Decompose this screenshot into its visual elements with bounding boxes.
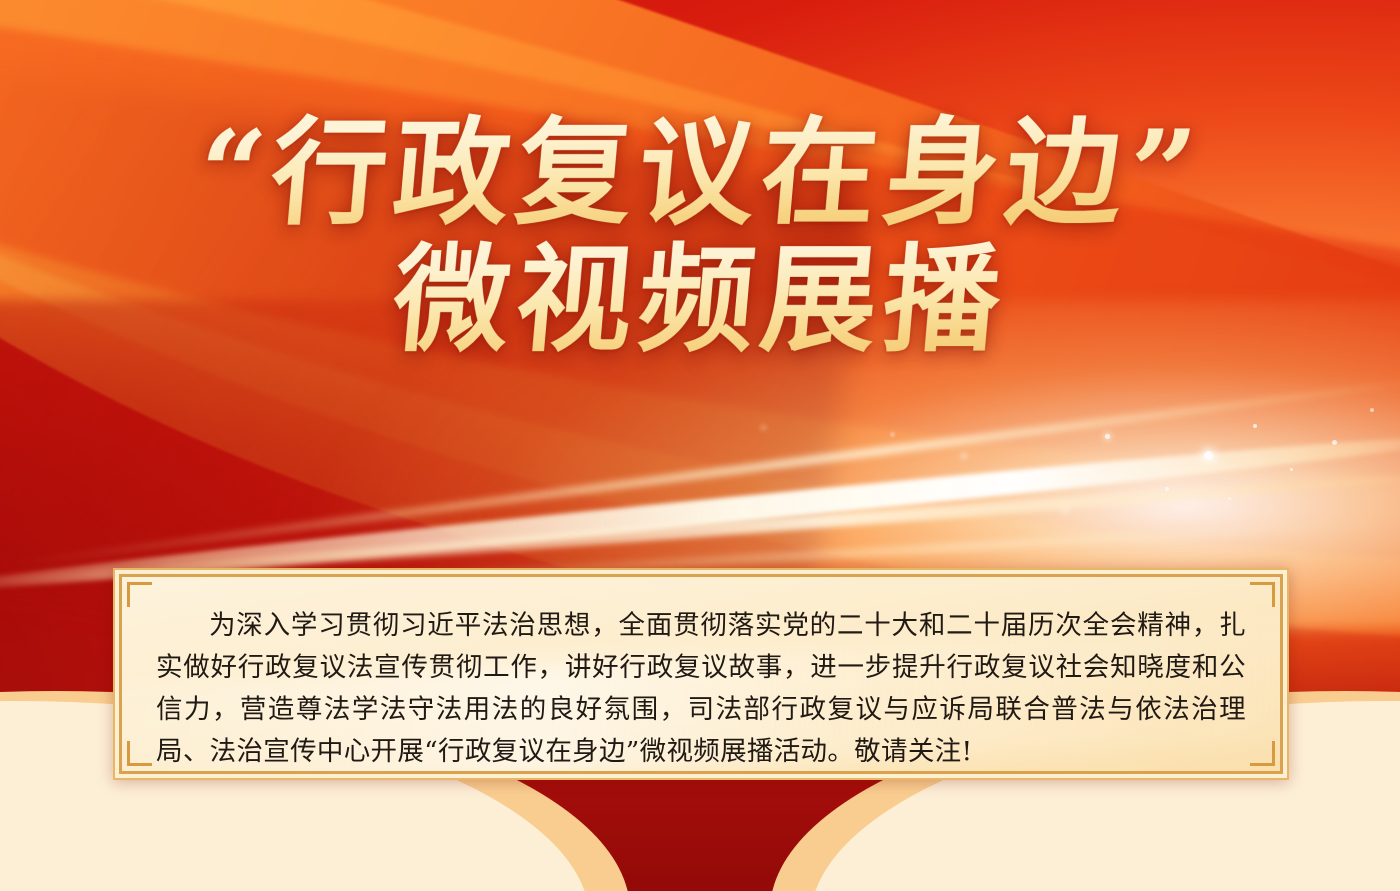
poster-title: “行政复议在身边” 微视频展播 [0,112,1400,362]
title-line-1: “行政复议在身边” [0,112,1400,235]
sparkle-particle [1370,408,1374,412]
light-streak-3 [0,373,1400,577]
sparkle-particle [960,452,968,460]
sparkle-particle [1228,497,1231,500]
sparkle-particle [760,424,767,431]
sparkle-particle [1332,440,1337,445]
announcement-body-text: 为深入学习贯彻习近平法治思想，全面贯彻落实党的二十大和二十届历次全会精神，扎实做… [122,577,1280,773]
title-line-2: 微视频展播 [0,239,1400,362]
sparkle-particle [1105,434,1110,439]
poster-canvas: “行政复议在身边” 微视频展播 为深入学习贯彻习近平法治思想，全面贯彻落实党的二… [0,0,1400,891]
sparkle-particle [1165,487,1169,491]
sparkle-particle [1035,470,1041,476]
sparkle-particle [1060,505,1070,515]
sparkle-particle [1290,468,1293,471]
sparkle-particle [1253,424,1257,428]
sparkle-particle [890,432,895,437]
sparkle-particle [1204,451,1213,460]
announcement-panel-inner: 为深入学习贯彻习近平法治思想，全面贯彻落实党的二十大和二十届历次全会精神，扎实做… [119,574,1283,774]
announcement-panel: 为深入学习贯彻习近平法治思想，全面贯彻落实党的二十大和二十届历次全会精神，扎实做… [113,568,1289,780]
